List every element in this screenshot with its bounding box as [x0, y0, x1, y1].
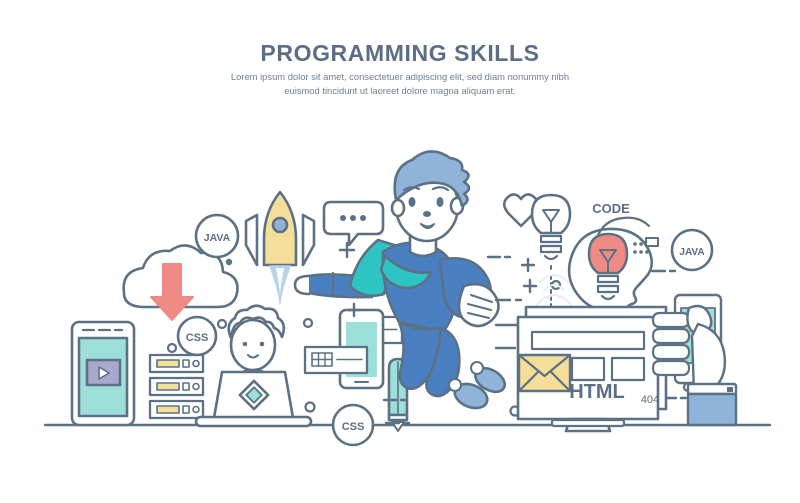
dot-icon-5: [306, 403, 315, 412]
page-title: PROGRAMMING SKILLS: [0, 40, 800, 67]
dot-icon-4: [304, 319, 312, 327]
dot-icon: [226, 259, 232, 265]
subtitle-line-1: Lorem ipsum dolor sit amet, consectetuer…: [200, 70, 600, 84]
tablet-video-icon: [72, 322, 134, 425]
dot-icon-2: [218, 320, 226, 328]
code-label: CODE: [592, 201, 630, 216]
css-badge-lower: CSS: [333, 405, 373, 445]
java-right-label: JAVA: [679, 247, 704, 258]
illustration-canvas: CSS JAVA: [0, 110, 800, 460]
plus-icon-4: [524, 280, 536, 292]
fingerprint-icon: [536, 275, 572, 306]
error-code-label: 404: [641, 394, 659, 406]
html-label: HTML: [569, 381, 625, 403]
plus-icon-3: [522, 259, 534, 271]
plus-icon: [340, 243, 354, 257]
css-upper-label: CSS: [186, 332, 209, 344]
dot-icon-3: [168, 344, 176, 352]
illustration-page: PROGRAMMING SKILLS Lorem ipsum dolor sit…: [0, 0, 800, 503]
subtitle-line-2: euismod tincidunt ut laoreet dolore magn…: [200, 84, 600, 98]
server-rack-icon: [150, 355, 203, 418]
java-badge-left: JAVA: [196, 215, 238, 257]
play-icon: [87, 360, 120, 385]
browser-window-icon-2: [305, 347, 367, 373]
page-subtitle: Lorem ipsum dolor sit amet, consectetuer…: [200, 70, 600, 98]
java-left-label: JAVA: [204, 232, 231, 244]
java-badge-right: JAVA: [672, 230, 712, 270]
laptop-icon: [196, 372, 311, 426]
chat-bubble-icon: [324, 202, 383, 245]
envelope-icon: [519, 355, 570, 391]
css-lower-label: CSS: [342, 421, 365, 433]
css-badge-upper: CSS: [178, 317, 216, 355]
